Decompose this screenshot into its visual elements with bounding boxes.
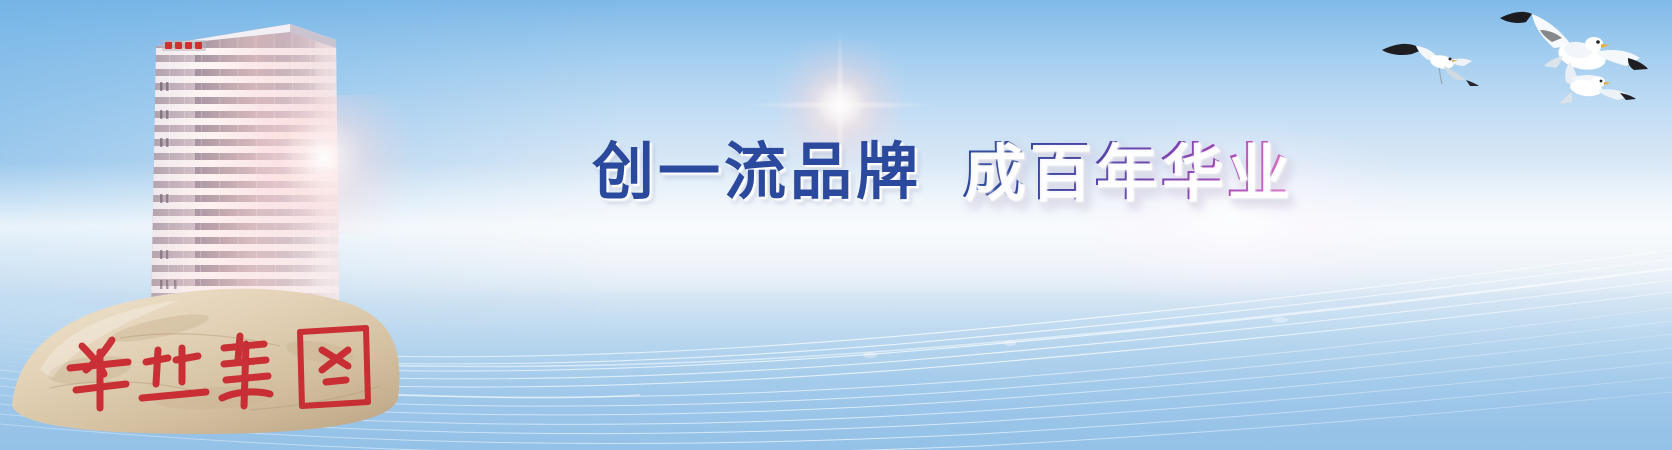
hero-banner: 华业集团 [0,0,1672,450]
monument-scene [0,220,600,450]
slogan-block: 创一流品牌 成百年华业 [592,141,1292,203]
slogan-text-primary: 创一流品牌 [592,141,922,203]
building-sign [162,40,206,51]
slogan-text-secondary: 成百年华业 [962,141,1292,203]
seagull-group [1372,0,1672,130]
seagull-icon-small [1382,44,1479,86]
